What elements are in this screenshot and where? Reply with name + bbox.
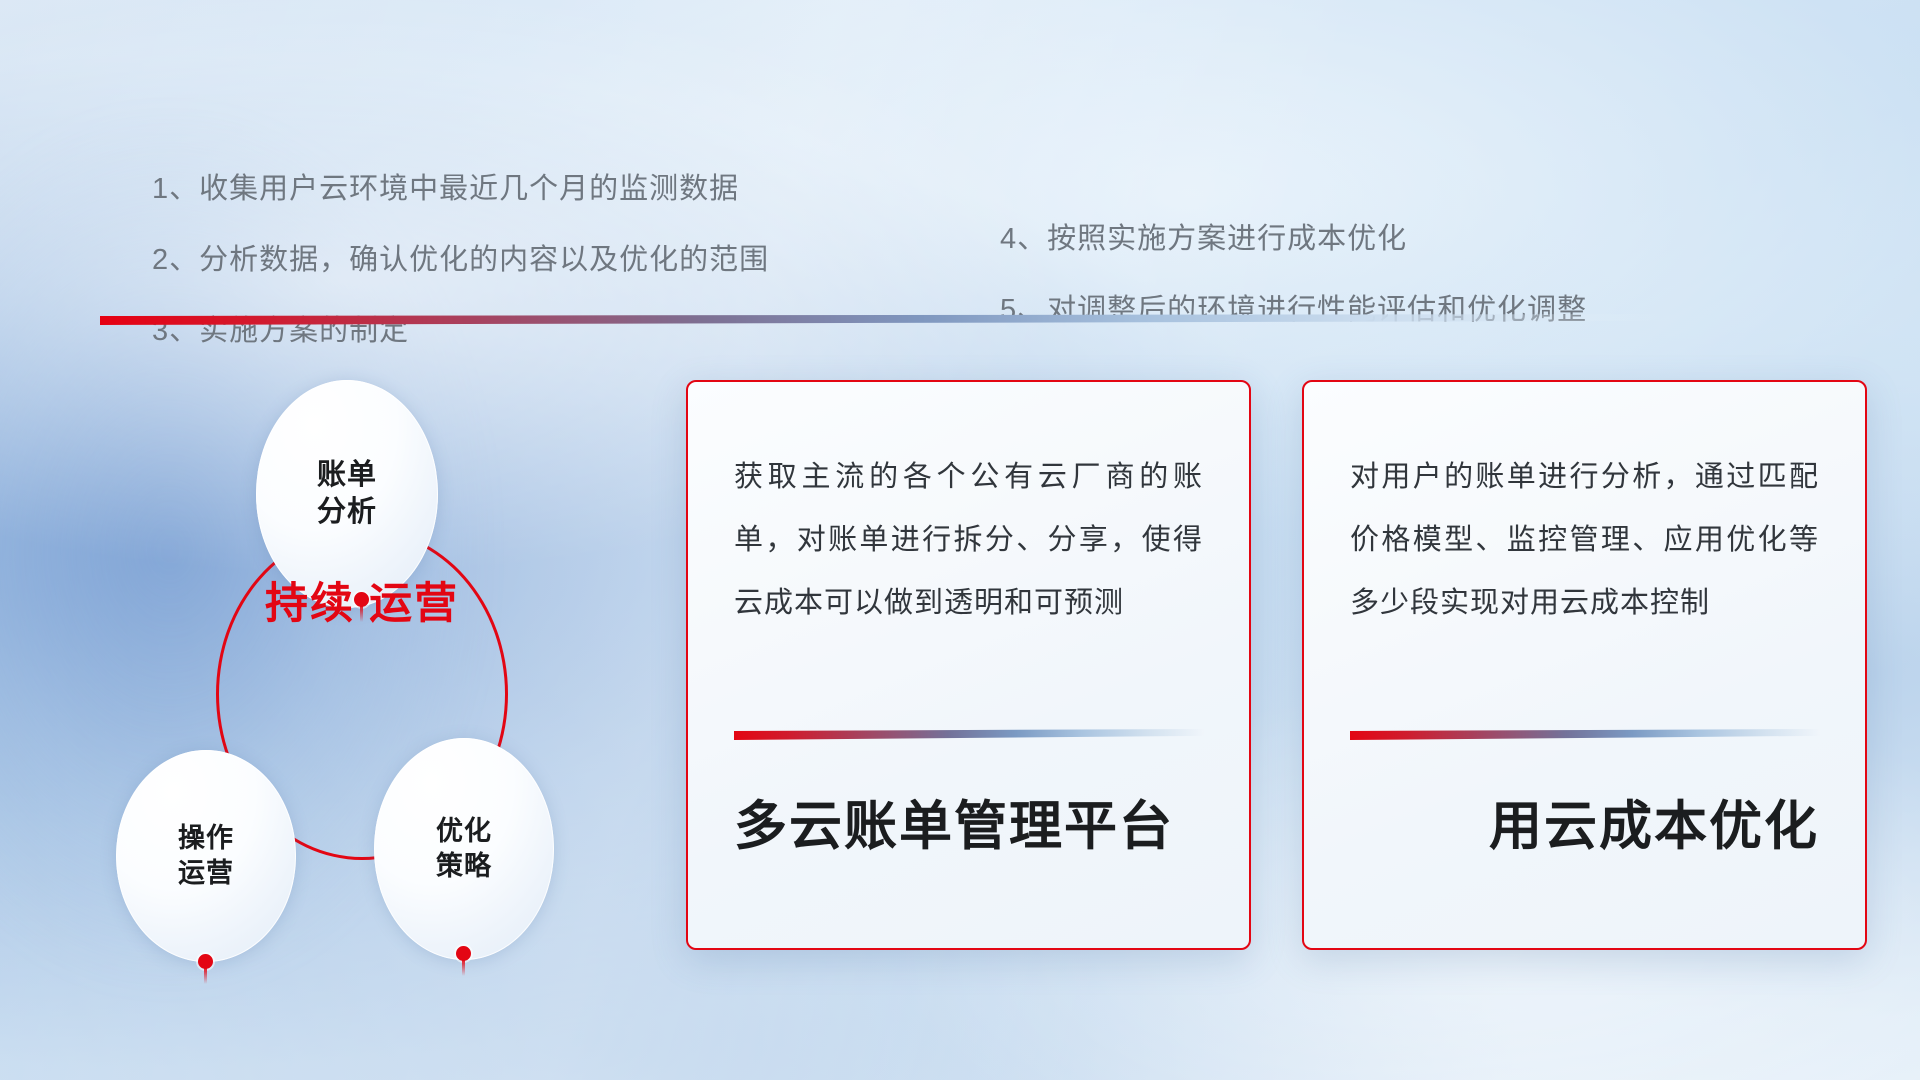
cycle-diagram: 持续 运营 账单 分析 操作 运营 优化 策略: [96, 380, 616, 940]
step-item-2: 2、分析数据，确认优化的内容以及优化的范围: [152, 243, 769, 278]
card-cloud-cost-optimization[interactable]: 对用户的账单进行分析，通过匹配价格模型、监控管理、应用优化等多少段实现对用云成本…: [1302, 380, 1867, 950]
diagram-dot-top: [354, 592, 369, 607]
section-divider: [100, 314, 1680, 325]
diagram-dot-bottom-right: [456, 946, 471, 961]
center-label-line-2: 运营: [369, 580, 459, 628]
step-item-1: 1、收集用户云环境中最近几个月的监测数据: [152, 172, 769, 207]
step-item-4: 4、按照实施方案进行成本优化: [1000, 222, 1587, 257]
card-title: 多云账单管理平台: [734, 784, 1174, 860]
card-body-text: 获取主流的各个公有云厂商的账单，对账单进行拆分、分享，使得云成本可以做到透明和可…: [734, 446, 1203, 636]
steps-left-column: 1、收集用户云环境中最近几个月的监测数据 2、分析数据，确认优化的内容以及优化的…: [152, 172, 769, 384]
diagram-node-optimization-strategy[interactable]: 优化 策略: [374, 738, 554, 960]
card-divider-bar: [1350, 729, 1820, 740]
node-label-line-2: 运营: [178, 856, 234, 891]
diagram-node-operation-management[interactable]: 操作 运营: [116, 750, 296, 962]
steps-right-column: 4、按照实施方案进行成本优化 5、对调整后的环境进行性能评估和优化调整: [1000, 222, 1587, 364]
node-label-line-1: 优化: [436, 814, 492, 849]
node-label-line-2: 策略: [436, 849, 492, 884]
card-body-text: 对用户的账单进行分析，通过匹配价格模型、监控管理、应用优化等多少段实现对用云成本…: [1350, 446, 1819, 636]
card-divider-bar: [734, 729, 1204, 740]
node-label-line-1: 操作: [178, 821, 234, 856]
diagram-dot-bottom-left: [198, 954, 213, 969]
node-label-line-2: 分析: [317, 494, 377, 531]
card-divider: [1350, 729, 1820, 740]
center-label-line-1: 持续: [265, 580, 355, 628]
section-divider-bar: [100, 314, 1680, 325]
card-divider: [734, 729, 1204, 740]
node-label-line-1: 账单: [317, 457, 377, 494]
diagram-node-billing-analysis[interactable]: 账单 分析: [256, 380, 438, 608]
card-title: 用云成本优化: [1489, 784, 1819, 860]
card-multi-cloud-billing-platform[interactable]: 获取主流的各个公有云厂商的账单，对账单进行拆分、分享，使得云成本可以做到透明和可…: [686, 380, 1251, 950]
